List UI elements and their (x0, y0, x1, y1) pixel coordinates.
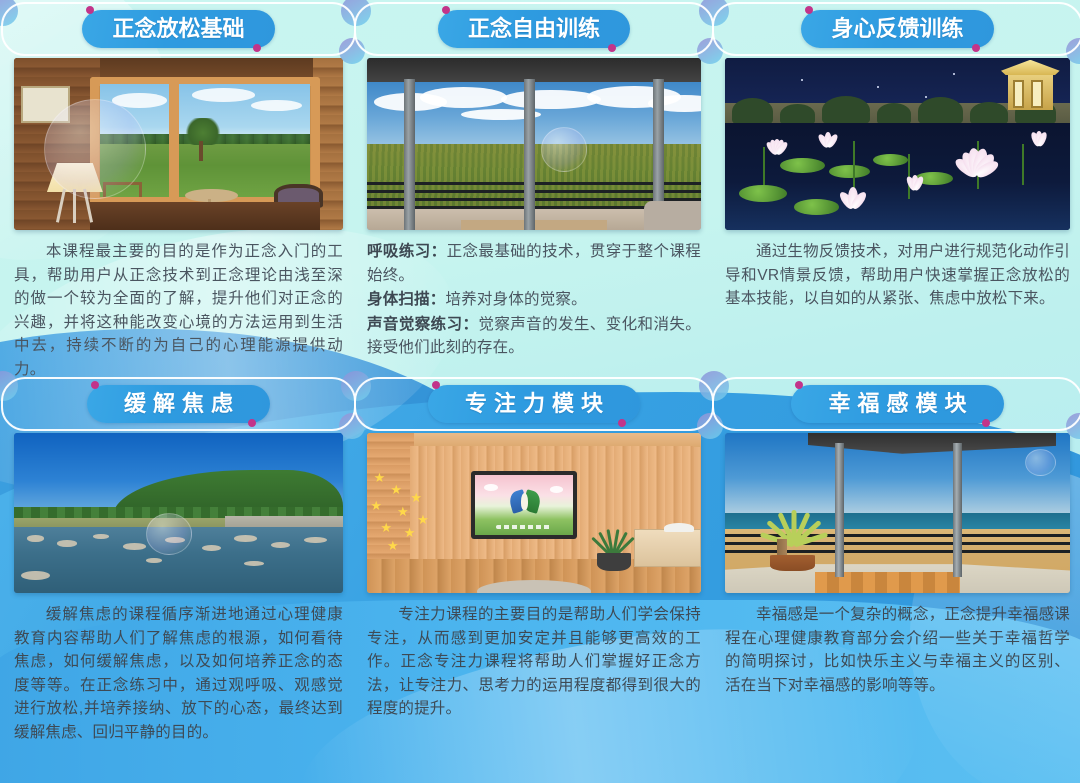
wood-room-tv-scene: ★ ★ ★ ★ ★ ★ ★ ★ ★ (367, 433, 701, 593)
badge-pill[interactable]: 缓解焦虑 (87, 385, 270, 423)
card-5-badge[interactable]: 专注力模块 (367, 375, 701, 433)
card-biofeedback-training: 身心反馈训练 (713, 0, 1080, 375)
beach-pergola-scene (725, 433, 1070, 593)
paragraph: 本课程最主要的目的是作为正念入门的工具，帮助用户从正念技术到正念理论由浅至深的做… (14, 240, 343, 381)
card-1-description: 本课程最主要的目的是作为正念入门的工具，帮助用户从正念技术到正念理论由浅至深的做… (14, 240, 343, 381)
card-mindfulness-basics: 正念放松基础 (0, 0, 355, 375)
poster-page: 正念放松基础 (0, 0, 1080, 783)
pavilion (1001, 60, 1060, 115)
card-4-badge[interactable]: 缓解焦虑 (14, 375, 343, 433)
paragraph: 专注力课程的主要目的是帮助人们学会保持专注，从而感到更加安定并且能够更高效的工作… (367, 603, 701, 721)
card-4-badge-label: 缓解焦虑 (117, 393, 240, 415)
paragraph-text: 培养对身体的觉察。 (446, 291, 587, 308)
wall-television (471, 471, 578, 538)
paragraph: 幸福感是一个复杂的概念，正念提升幸福感课程在心理健康教育部分会介绍一些关于幸福哲… (725, 603, 1070, 697)
card-3-image[interactable] (725, 58, 1070, 230)
lotus-flower (1022, 130, 1057, 145)
card-3-badge-label: 身心反馈训练 (831, 18, 963, 40)
paragraph-text: 通过生物反馈技术，对用户进行规范化动作引导和VR情景反馈，帮助用户快速掌握正念放… (725, 243, 1070, 307)
badge-pill[interactable]: 身心反馈训练 (801, 10, 993, 48)
card-2-image[interactable] (367, 58, 701, 230)
dot-decor-icon (91, 381, 99, 389)
card-3-description: 通过生物反馈技术，对用户进行规范化动作引导和VR情景反馈，帮助用户快速掌握正念放… (725, 240, 1070, 311)
dot-decor-icon (432, 381, 440, 389)
glass-room-meadow-scene (367, 58, 701, 230)
paragraph-text: 缓解焦虑的课程循序渐进地通过心理健康教育内容帮助人们了解焦虑的根源，如何看待焦虑… (14, 606, 343, 741)
card-6-description: 幸福感是一个复杂的概念，正念提升幸福感课程在心理健康教育部分会介绍一些关于幸福哲… (725, 603, 1070, 697)
paragraph-text: 本课程最主要的目的是作为正念入门的工具，帮助用户从正念技术到正念理论由浅至深的做… (14, 243, 343, 378)
paragraph: 缓解焦虑的课程循序渐进地通过心理健康教育内容帮助人们了解焦虑的根源，如何看待焦虑… (14, 603, 343, 744)
card-5-description: 专注力课程的主要目的是帮助人们学会保持专注，从而感到更加安定并且能够更高效的工作… (367, 603, 701, 721)
card-focus-module: 专注力模块 ★ ★ ★ ★ ★ ★ (355, 375, 713, 783)
dot-decor-icon (608, 44, 616, 52)
lotus-flower (808, 129, 849, 148)
card-1-badge[interactable]: 正念放松基础 (14, 0, 343, 58)
badge-pill[interactable]: 专注力模块 (428, 385, 640, 423)
card-1-badge-label: 正念放松基础 (112, 18, 244, 40)
lens-flare-icon (146, 513, 192, 555)
card-anxiety-relief: 缓解焦虑 (0, 375, 355, 783)
badge-pill[interactable]: 正念自由训练 (438, 10, 630, 48)
card-wellbeing-module: 幸福感模块 (713, 375, 1080, 783)
paragraph: 身体扫描：培养对身体的觉察。 (367, 288, 701, 312)
card-4-description: 缓解焦虑的课程循序渐进地通过心理健康教育内容帮助人们了解焦虑的根源，如何看待焦虑… (14, 603, 343, 744)
card-grid: 正念放松基础 (0, 0, 1080, 783)
lotus-flower (898, 175, 933, 190)
palm-tree (753, 510, 836, 545)
dot-decor-icon (982, 419, 990, 427)
lotus-pond-night-scene (725, 58, 1070, 230)
card-6-badge[interactable]: 幸福感模块 (725, 375, 1070, 433)
card-2-description: 呼吸练习：正念最基础的技术，贯穿于整个课程始终。 身体扫描：培养对身体的觉察。 … (367, 240, 701, 360)
side-cabinet (634, 529, 701, 567)
lotus-flower (939, 144, 1015, 175)
paragraph: 通过生物反馈技术，对用户进行规范化动作引导和VR情景反馈，帮助用户快速掌握正念放… (725, 240, 1070, 311)
dot-decor-icon (248, 419, 256, 427)
card-6-image[interactable] (725, 433, 1070, 593)
lotus-flower (829, 185, 877, 207)
paragraph-label: 身体扫描： (367, 291, 446, 308)
card-free-training: 正念自由训练 (355, 0, 713, 375)
dot-decor-icon (795, 381, 803, 389)
card-5-badge-label: 专注力模块 (458, 393, 610, 415)
dot-decor-icon (972, 44, 980, 52)
badge-pill[interactable]: 正念放松基础 (82, 10, 274, 48)
lotus-flower (753, 134, 801, 155)
cabin-window-meadow-scene (14, 58, 343, 230)
card-5-image[interactable]: ★ ★ ★ ★ ★ ★ ★ ★ ★ (367, 433, 701, 593)
dot-decor-icon (442, 6, 450, 14)
paragraph-label: 呼吸练习： (367, 243, 447, 260)
paragraph: 呼吸练习：正念最基础的技术，贯穿于整个课程始终。 (367, 240, 701, 287)
paragraph-label: 声音觉察练习： (367, 316, 478, 333)
card-3-badge[interactable]: 身心反馈训练 (725, 0, 1070, 58)
dot-decor-icon (86, 6, 94, 14)
river-hillside-scene (14, 433, 343, 593)
dot-decor-icon (253, 44, 261, 52)
card-2-badge-label: 正念自由训练 (468, 18, 600, 40)
dot-decor-icon (805, 6, 813, 14)
paragraph: 声音觉察练习：觉察声音的发生、变化和消失。接受他们此刻的存在。 (367, 313, 701, 360)
lens-flare-icon (541, 127, 588, 172)
paragraph-text: 幸福感是一个复杂的概念，正念提升幸福感课程在心理健康教育部分会介绍一些关于幸福哲… (725, 606, 1070, 694)
card-1-image[interactable] (14, 58, 343, 230)
badge-pill[interactable]: 幸福感模块 (791, 385, 1003, 423)
lens-flare-icon (44, 99, 146, 199)
card-6-badge-label: 幸福感模块 (821, 393, 973, 415)
card-4-image[interactable] (14, 433, 343, 593)
paragraph-text: 专注力课程的主要目的是帮助人们学会保持专注，从而感到更加安定并且能够更高效的工作… (367, 606, 701, 717)
card-2-badge[interactable]: 正念自由训练 (367, 0, 701, 58)
dot-decor-icon (618, 419, 626, 427)
